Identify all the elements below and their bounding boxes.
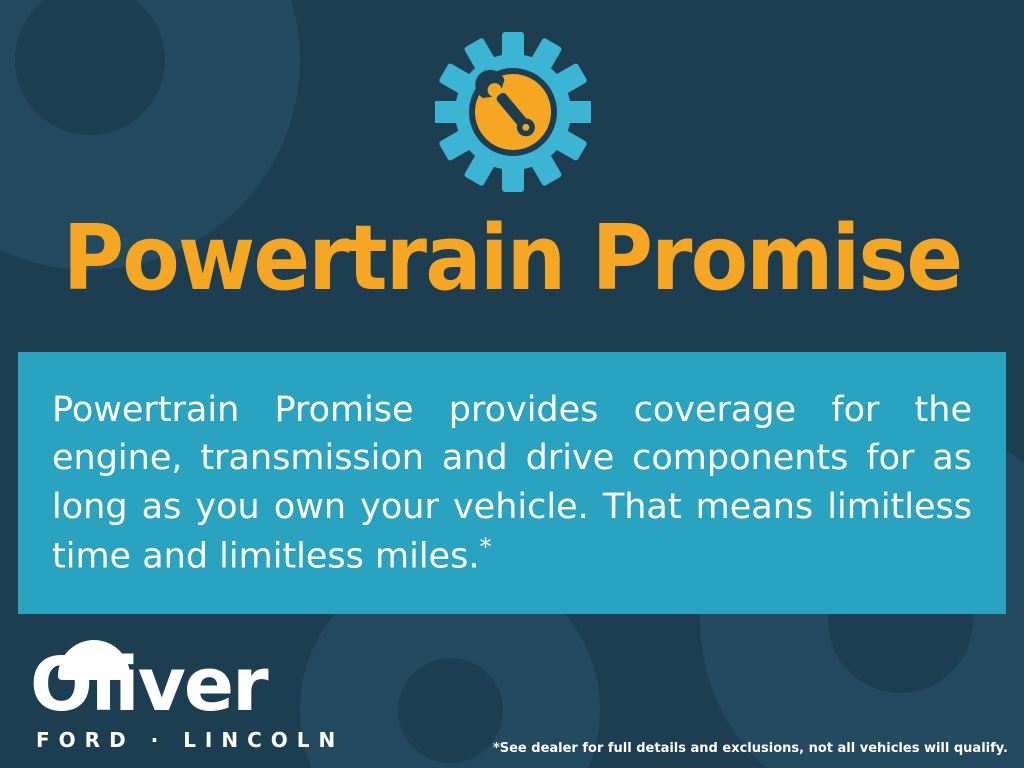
dealer-logo: Oliver FORD · LINCOLN bbox=[30, 636, 350, 756]
coverage-description: Powertrain Promise provides coverage for… bbox=[52, 386, 972, 581]
gear-hub bbox=[398, 658, 503, 763]
coverage-description-text: Powertrain Promise provides coverage for… bbox=[52, 390, 972, 577]
gear-hub bbox=[15, 0, 165, 135]
dealer-name: Oliver bbox=[30, 648, 267, 722]
dealer-subtitle: FORD · LINCOLN bbox=[36, 728, 344, 752]
legal-footnote: *See dealer for full details and exclusi… bbox=[493, 741, 1008, 756]
page-title: Powertrain Promise bbox=[36, 214, 988, 304]
promo-poster: Powertrain Promise Powertrain Promise pr… bbox=[0, 0, 1024, 768]
gear-wrench-icon bbox=[435, 28, 591, 196]
coverage-panel: Powertrain Promise provides coverage for… bbox=[18, 352, 1006, 614]
asterisk-marker: * bbox=[479, 533, 491, 561]
